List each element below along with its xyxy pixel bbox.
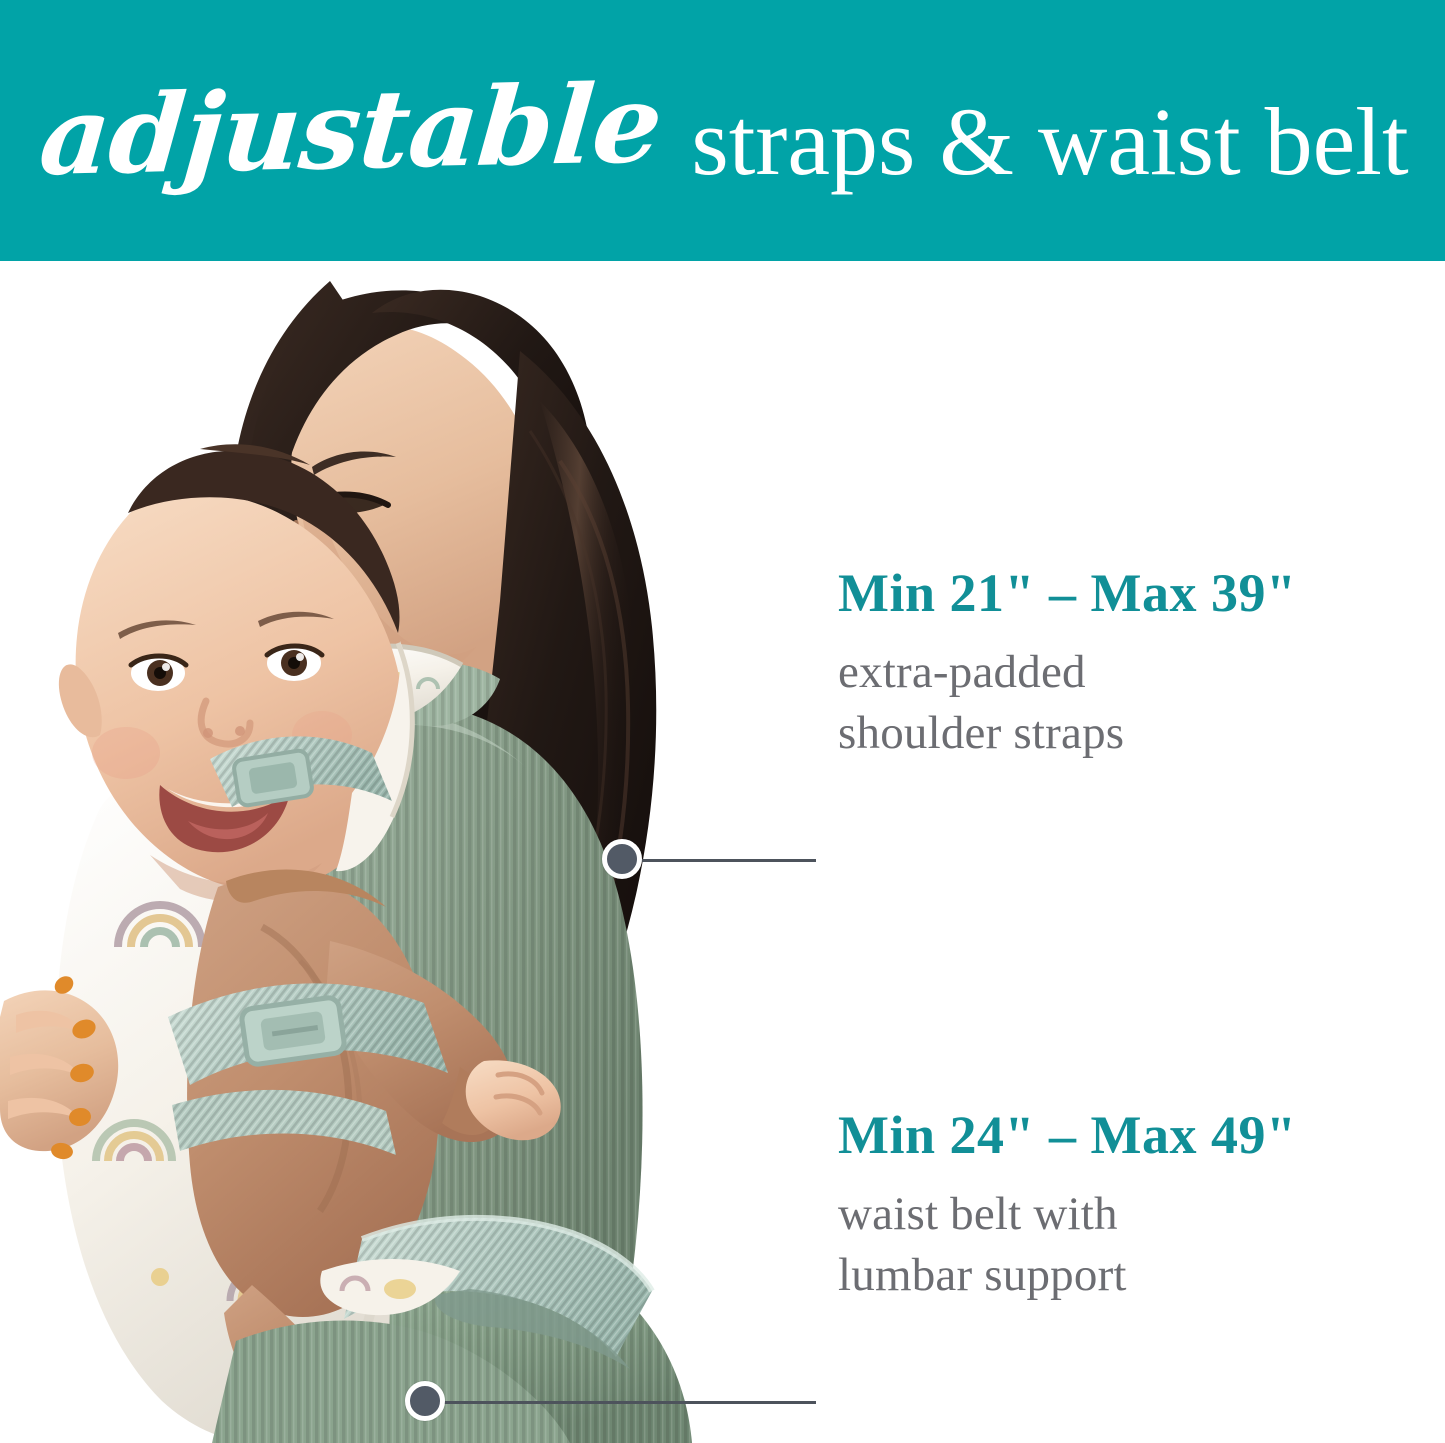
leader-line-waist-belt (432, 1401, 816, 1404)
callout-shoulder-straps: Min 21" – Max 39" extra-padded shoulder … (838, 566, 1296, 764)
dot-marker-waist-belt (405, 1381, 445, 1421)
header-banner: adjustable straps & waist belt (0, 0, 1445, 261)
callout-body-waist-belt: waist belt with lumbar support (838, 1184, 1296, 1306)
callout-headline-waist-belt: Min 24" – Max 49" (838, 1108, 1296, 1162)
callout-body-line-2: lumbar support (838, 1245, 1296, 1306)
page-title-rest: straps & waist belt (691, 94, 1408, 190)
leader-line-shoulder-straps (630, 859, 816, 862)
banner-title-group: adjustable straps & waist belt (36, 83, 1408, 191)
dot-marker-shoulder-straps (602, 839, 642, 879)
callout-body-line-2: shoulder straps (838, 703, 1296, 764)
page-title-script: adjustable (36, 69, 675, 190)
callout-body-line-1: waist belt with (838, 1184, 1296, 1245)
infographic-page: adjustable straps & waist belt (0, 0, 1445, 1443)
callout-body-shoulder-straps: extra-padded shoulder straps (838, 642, 1296, 764)
callout-headline-shoulder-straps: Min 21" – Max 39" (838, 566, 1296, 620)
callout-body-line-1: extra-padded (838, 642, 1296, 703)
callout-waist-belt: Min 24" – Max 49" waist belt with lumbar… (838, 1108, 1296, 1306)
